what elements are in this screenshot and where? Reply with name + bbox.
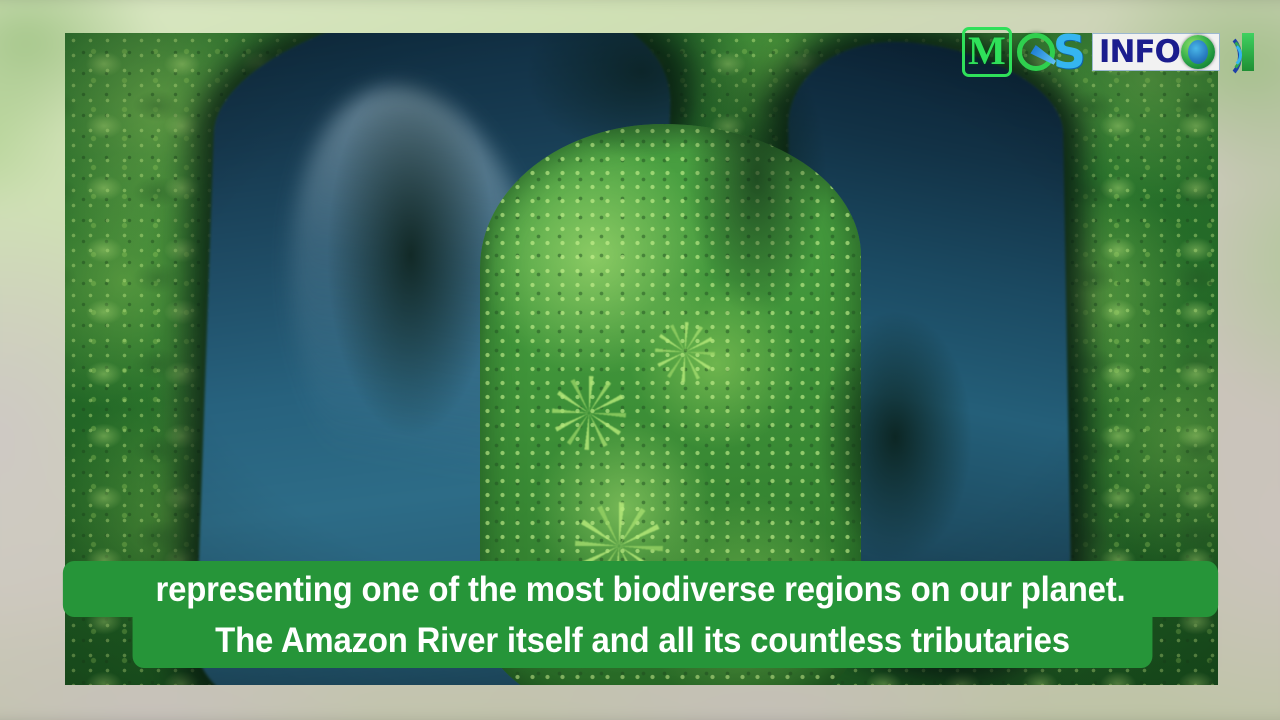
video-frame: M S INFO representing one of the most bi… xyxy=(0,0,1280,720)
caption-line-1-text: representing one of the most biodiverse … xyxy=(155,572,1125,607)
caption-line-1: representing one of the most biodiverse … xyxy=(63,561,1218,617)
logo-swoosh-icon xyxy=(1214,32,1244,72)
caption-line-2: The Amazon River itself and all its coun… xyxy=(133,612,1153,668)
channel-logo[interactable]: M S INFO xyxy=(962,26,1254,78)
caption-line-2-text: The Amazon River itself and all its coun… xyxy=(215,623,1070,658)
logo-letter-q xyxy=(1013,29,1059,75)
logo-info-text: INFO xyxy=(1099,37,1180,68)
logo-letter-m: M xyxy=(962,27,1012,77)
